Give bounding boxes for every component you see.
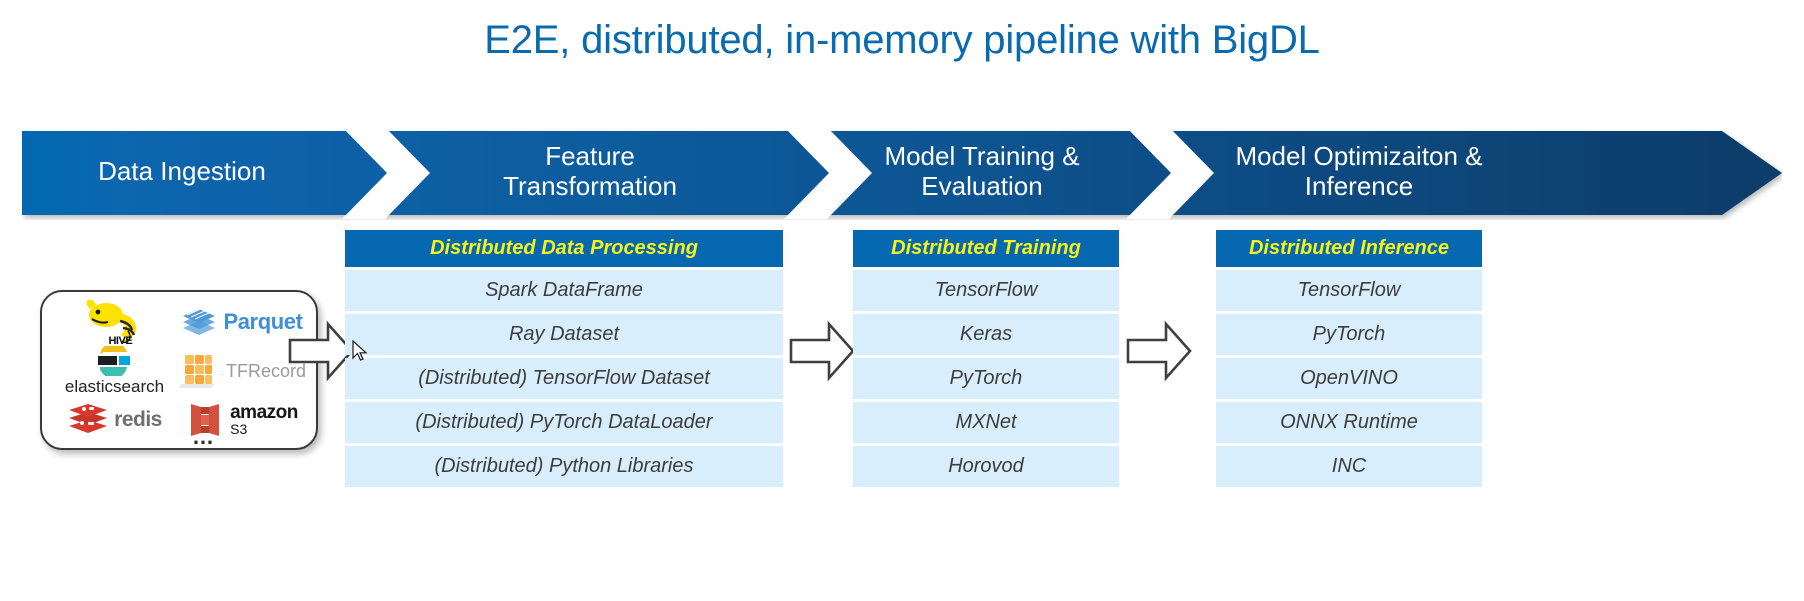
data-source-logo-grid: HIVE Parquet bbox=[42, 292, 316, 448]
table-row[interactable]: TensorFlow bbox=[1216, 270, 1482, 311]
page-title: E2E, distributed, in-memory pipeline wit… bbox=[0, 18, 1804, 63]
hive-icon: HIVE bbox=[82, 299, 146, 345]
stage-data-ingestion[interactable]: Data Ingestion bbox=[22, 130, 342, 214]
arrow-training-to-inference bbox=[1126, 318, 1192, 384]
table-row[interactable]: PyTorch bbox=[853, 358, 1119, 399]
table-row[interactable]: PyTorch bbox=[1216, 314, 1482, 355]
stage-label-2: Model Training & Evaluation bbox=[850, 142, 1114, 202]
more-sources-ellipsis: … bbox=[192, 424, 216, 450]
amazon-label: amazon bbox=[230, 404, 298, 422]
logo-hive: HIVE bbox=[82, 299, 146, 345]
amazon-s3-sublabel: S3 bbox=[230, 422, 298, 436]
table-header-inference: Distributed Inference bbox=[1216, 230, 1482, 267]
arrow-processing-to-training bbox=[789, 318, 855, 384]
table-distributed-training: Distributed Training TensorFlow Keras Py… bbox=[853, 230, 1119, 487]
logo-parquet: Parquet bbox=[180, 307, 302, 337]
table-row[interactable]: INC bbox=[1216, 446, 1482, 487]
table-row[interactable]: (Distributed) TensorFlow Dataset bbox=[345, 358, 783, 399]
table-row[interactable]: (Distributed) PyTorch DataLoader bbox=[345, 402, 783, 443]
tfrecord-icon bbox=[177, 351, 221, 391]
table-row[interactable]: Keras bbox=[853, 314, 1119, 355]
table-row[interactable]: OpenVINO bbox=[1216, 358, 1482, 399]
table-header-data-processing: Distributed Data Processing bbox=[345, 230, 783, 267]
data-source-card: HIVE Parquet bbox=[40, 290, 318, 450]
redis-icon bbox=[67, 404, 109, 436]
stage-label-1: Feature Transformation bbox=[408, 142, 772, 202]
logo-elasticsearch: elasticsearch bbox=[65, 346, 164, 397]
mouse-cursor-icon bbox=[352, 340, 368, 364]
pipeline-stage-band: Data Ingestion Feature Transformation Mo… bbox=[22, 130, 1782, 214]
table-row[interactable]: TensorFlow bbox=[853, 270, 1119, 311]
stage-model-training-evaluation[interactable]: Model Training & Evaluation bbox=[832, 130, 1132, 214]
table-header-training: Distributed Training bbox=[853, 230, 1119, 267]
logo-tfrecord: TFRecord bbox=[177, 351, 306, 391]
parquet-icon bbox=[180, 307, 218, 337]
redis-label: redis bbox=[114, 408, 162, 432]
stage-label-3: Model Optimizaiton & Inference bbox=[1192, 142, 1526, 202]
table-data-processing: Distributed Data Processing Spark DataFr… bbox=[345, 230, 783, 487]
stage-feature-transformation[interactable]: Feature Transformation bbox=[390, 130, 790, 214]
table-row[interactable]: Ray Dataset bbox=[345, 314, 783, 355]
table-row[interactable]: (Distributed) Python Libraries bbox=[345, 446, 783, 487]
elasticsearch-label: elasticsearch bbox=[65, 377, 164, 397]
table-row[interactable]: Horovod bbox=[853, 446, 1119, 487]
table-row[interactable]: ONNX Runtime bbox=[1216, 402, 1482, 443]
elasticsearch-icon bbox=[96, 346, 132, 376]
stage-model-optimization-inference[interactable]: Model Optimizaiton & Inference bbox=[1174, 130, 1544, 214]
slide-canvas: E2E, distributed, in-memory pipeline wit… bbox=[0, 0, 1804, 601]
table-row[interactable]: MXNet bbox=[853, 402, 1119, 443]
table-row[interactable]: Spark DataFrame bbox=[345, 270, 783, 311]
logo-redis: redis bbox=[67, 404, 162, 436]
stage-label-0: Data Ingestion bbox=[40, 157, 324, 187]
table-distributed-inference: Distributed Inference TensorFlow PyTorch… bbox=[1216, 230, 1482, 487]
